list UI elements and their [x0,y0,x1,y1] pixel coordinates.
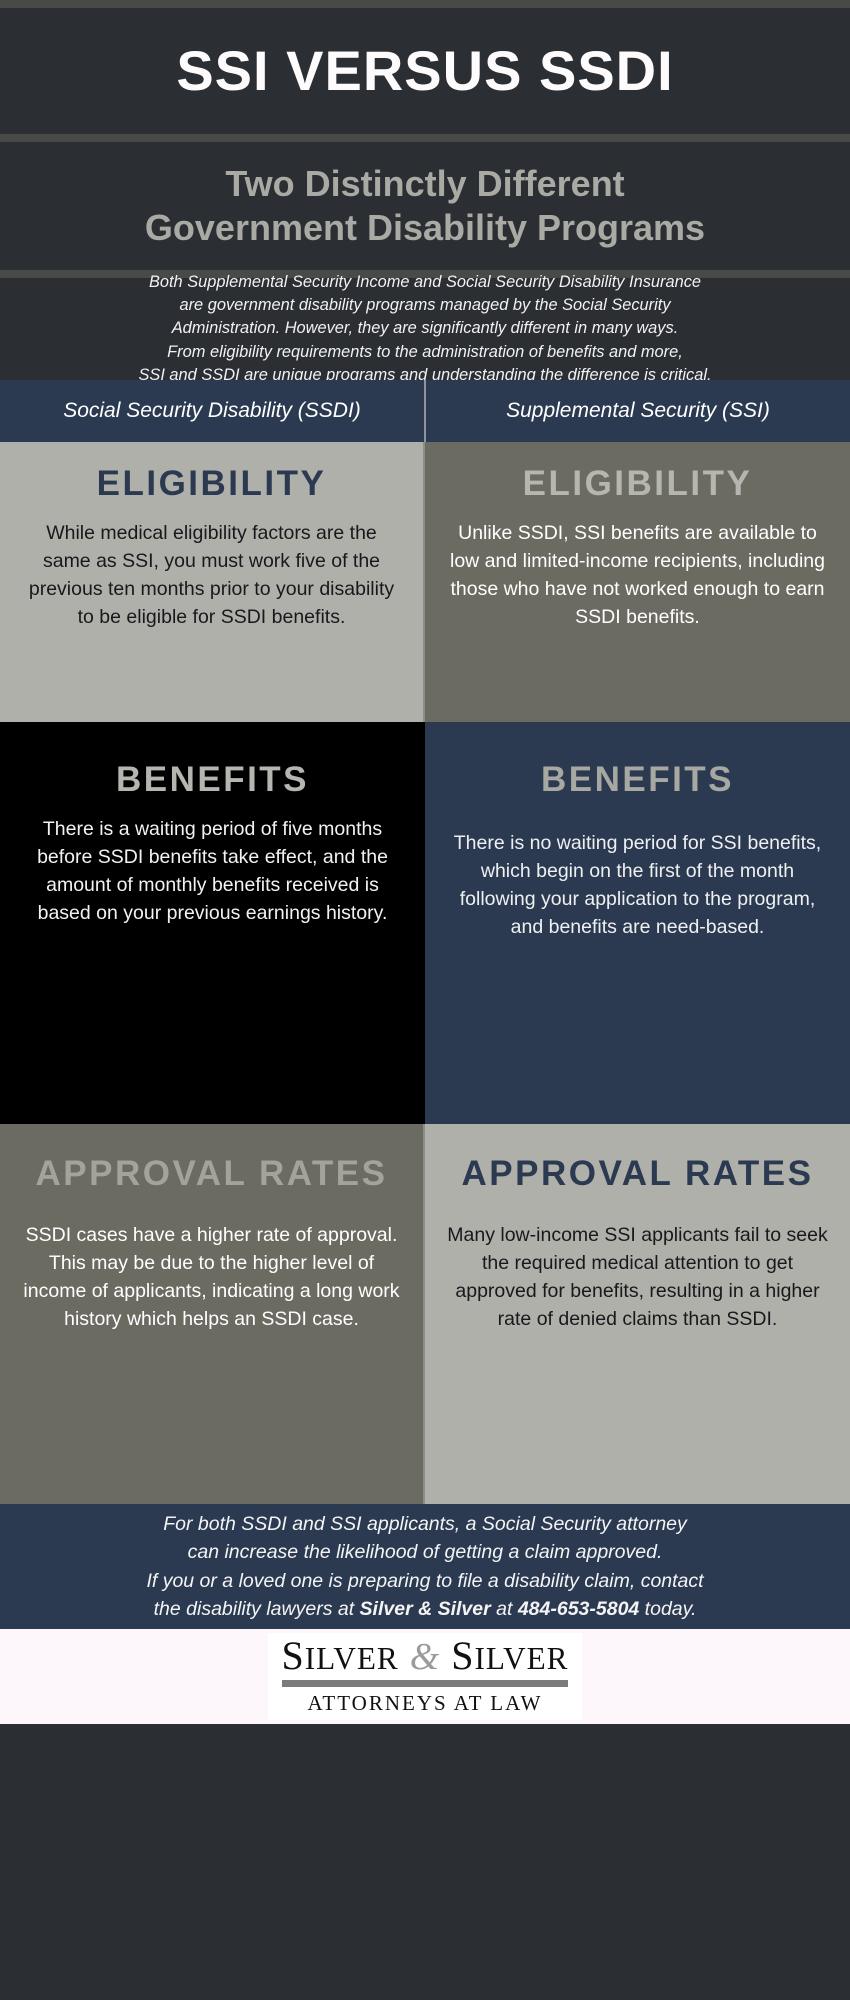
heading-ssi-benefits: BENEFITS [541,760,734,801]
logo-lockup: SILVER & SILVER ATTORNEYS AT LAW [268,1633,583,1721]
body-ssdi-approval-rates: SSDI cases have a higher rate of approva… [22,1221,401,1334]
row-benefits: BENEFITS There is a waiting period of fi… [0,722,850,1124]
infographic-root: SSI VERSUS SSDI Two Distinctly Different… [0,0,850,2000]
body-ssdi-eligibility: While medical eligibility factors are th… [22,519,401,632]
divider-title-subtitle [0,134,850,142]
logo-ampersand-icon: & [410,1636,441,1678]
subtitle-section: Two Distinctly Different Government Disa… [0,142,850,270]
heading-ssi-eligibility: ELIGIBILITY [523,464,753,505]
body-ssi-benefits: There is no waiting period for SSI benef… [447,829,828,942]
cell-ssdi-approval-rates: APPROVAL RATES SSDI cases have a higher … [0,1124,425,1504]
logo-tagline: ATTORNEYS AT LAW [308,1691,543,1716]
intro-line-4: From eligibility requirements to the adm… [167,343,683,361]
cta-paragraph: For both SSDI and SSI applicants, a Soci… [146,1510,703,1623]
heading-ssdi-eligibility: ELIGIBILITY [97,464,327,505]
cta-line-4-mid: at [491,1598,518,1620]
intro-line-1: Both Supplemental Security Income and So… [149,273,701,291]
cta-section: For both SSDI and SSI applicants, a Soci… [0,1504,850,1629]
row-approval-rates: APPROVAL RATES SSDI cases have a higher … [0,1124,850,1504]
cell-ssdi-benefits: BENEFITS There is a waiting period of fi… [0,722,425,1124]
logo-section: SILVER & SILVER ATTORNEYS AT LAW [0,1629,850,1724]
page-subtitle: Two Distinctly Different Government Disa… [145,162,705,250]
cell-ssi-benefits: BENEFITS There is no waiting period for … [425,722,850,1124]
logo-word-1: SILVER [282,1633,399,1678]
top-accent-bar [0,0,850,8]
cell-ssdi-eligibility: ELIGIBILITY While medical eligibility fa… [0,442,425,722]
logo-rule-divider [282,1680,569,1687]
body-ssi-eligibility: Unlike SSDI, SSI benefits are available … [447,519,828,632]
cta-line-2: can increase the likelihood of getting a… [188,1541,663,1563]
cta-line-1: For both SSDI and SSI applicants, a Soci… [163,1513,687,1535]
cell-ssi-eligibility: ELIGIBILITY Unlike SSDI, SSI benefits ar… [425,442,850,722]
title-section: SSI VERSUS SSDI [0,8,850,134]
body-ssi-approval-rates: Many low-income SSI applicants fail to s… [447,1221,828,1334]
cta-phone-number[interactable]: 484-653-5804 [518,1598,639,1620]
intro-section: Both Supplemental Security Income and So… [0,278,850,380]
logo-word-2: SILVER [451,1633,568,1678]
intro-paragraph: Both Supplemental Security Income and So… [138,271,711,387]
heading-ssdi-benefits: BENEFITS [116,760,309,801]
column-header-ssi: Supplemental Security (SSI) [426,380,850,442]
column-header-ssdi: Social Security Disability (SSDI) [0,380,426,442]
heading-ssi-approval-rates: APPROVAL RATES [462,1154,814,1195]
cta-firm-name: Silver & Silver [360,1598,491,1620]
subtitle-line-2: Government Disability Programs [145,207,705,248]
row-eligibility: ELIGIBILITY While medical eligibility fa… [0,442,850,722]
heading-ssdi-approval-rates: APPROVAL RATES [36,1154,388,1195]
comparison-column-headers: Social Security Disability (SSDI) Supple… [0,380,850,442]
page-title: SSI VERSUS SSDI [176,43,673,99]
logo-firm-name: SILVER & SILVER [282,1635,569,1678]
cta-line-3: If you or a loved one is preparing to fi… [146,1570,703,1592]
logo-word-2-smallcaps: ILVER [475,1641,569,1676]
intro-line-2: are government disability programs manag… [179,296,670,314]
logo-word-1-smallcaps: ILVER [305,1641,399,1676]
intro-line-3: Administration. However, they are signif… [172,319,679,337]
body-ssdi-benefits: There is a waiting period of five months… [22,815,403,928]
subtitle-line-1: Two Distinctly Different [225,163,624,204]
cta-line-4-post: today. [639,1598,696,1620]
cta-line-4-pre: the disability lawyers at [154,1598,360,1620]
cell-ssi-approval-rates: APPROVAL RATES Many low-income SSI appli… [425,1124,850,1504]
